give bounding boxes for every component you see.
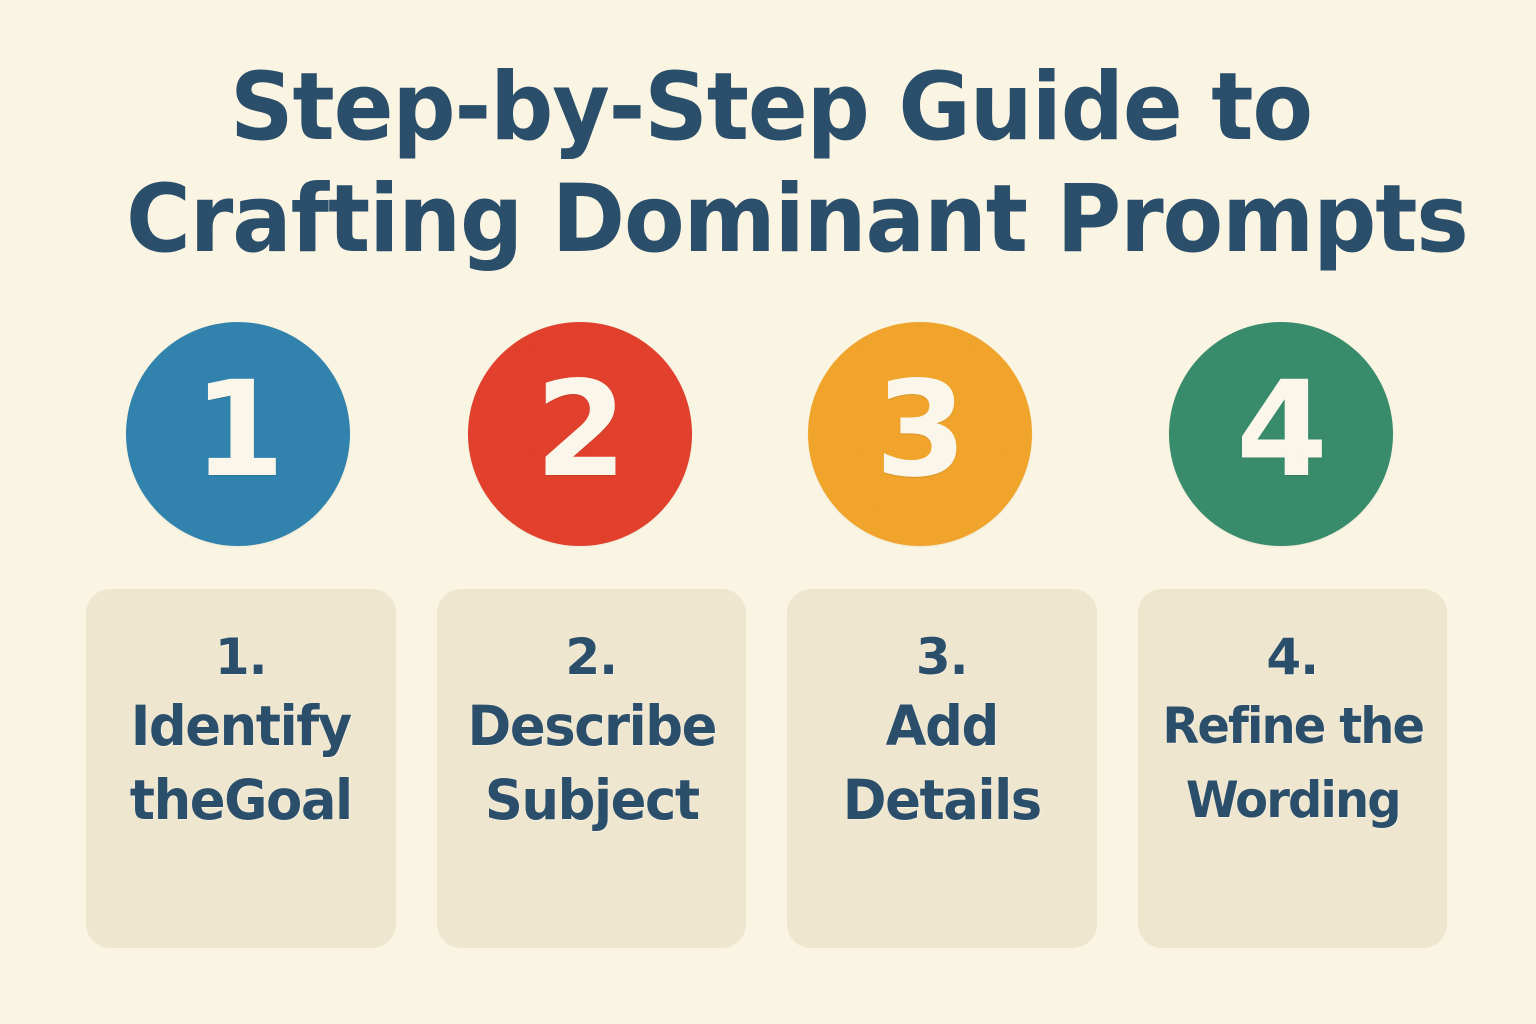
step-card-line2-2: Subject <box>443 763 740 837</box>
step-card-index-1: 1. <box>86 625 396 689</box>
step-circle-number-1: 1 <box>193 364 283 496</box>
step-card-line2-1: theGoal <box>92 763 389 837</box>
page-title: Step-by-Step Guide to Crafting Dominant … <box>126 52 1446 276</box>
step-circle-4: 4 <box>1169 322 1393 546</box>
infographic-poster: Step-by-Step Guide to Crafting Dominant … <box>0 0 1536 1024</box>
step-card-line1-2: Describe <box>443 689 740 763</box>
step-card-1: 1. Identify theGoal <box>86 589 396 948</box>
step-circle-number-3: 3 <box>875 364 965 496</box>
step-card-index-4: 4. <box>1138 625 1448 689</box>
step-circle-number-2: 2 <box>535 364 625 496</box>
step-card-text-4: 4. Refine the Wording <box>1138 625 1448 837</box>
step-card-line1-3: Add <box>793 689 1090 763</box>
step-card-text-1: 1. Identify theGoal <box>86 625 396 837</box>
step-circle-3: 3 <box>808 322 1032 546</box>
step-card-row: 1. Identify theGoal 2. Describe Subject … <box>86 589 1447 948</box>
step-card-text-2: 2. Describe Subject <box>437 625 747 837</box>
step-circle-1: 1 <box>126 322 350 546</box>
step-card-text-3: 3. Add Details <box>787 625 1097 837</box>
step-card-4: 4. Refine the Wording <box>1138 589 1448 948</box>
step-circle-number-4: 4 <box>1236 364 1326 496</box>
step-card-line1-4: Refine the <box>1144 689 1441 763</box>
step-number-circle-row: 1 2 3 4 <box>86 322 1448 548</box>
step-card-index-3: 3. <box>787 625 1097 689</box>
step-card-2: 2. Describe Subject <box>437 589 747 948</box>
step-circle-2: 2 <box>468 322 692 546</box>
step-card-index-2: 2. <box>437 625 747 689</box>
step-card-line1-1: Identify <box>92 689 389 763</box>
step-card-line2-3: Details <box>793 763 1090 837</box>
title-line-2: Crafting Dominant Prompts <box>126 164 1367 276</box>
step-card-line2-4: Wording <box>1144 763 1441 837</box>
step-card-3: 3. Add Details <box>787 589 1097 948</box>
title-line-1: Step-by-Step Guide to <box>230 52 1373 164</box>
